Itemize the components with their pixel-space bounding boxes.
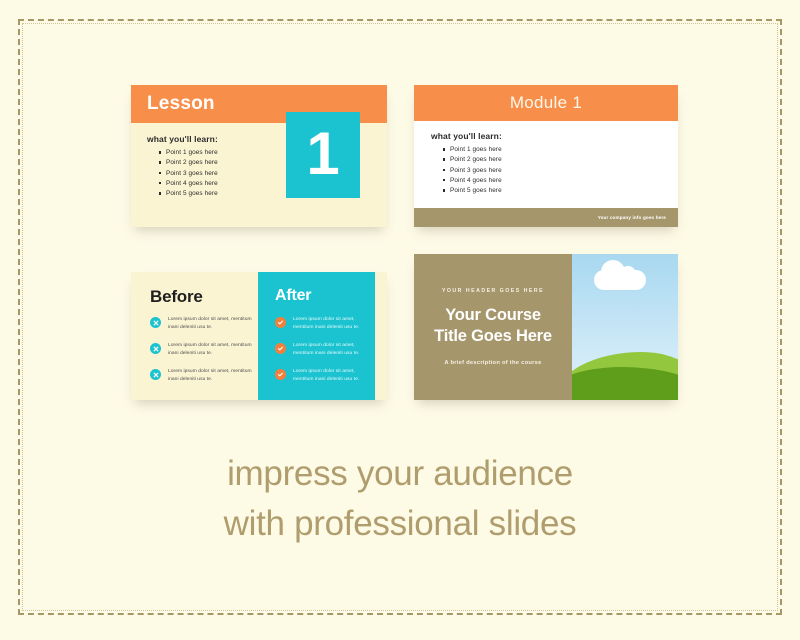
list-item: Lorem ipsum dolor sit amet, mentitum ina… [131,316,258,332]
check-icon [275,369,286,380]
course-text-panel: YOUR HEADER GOES HERE Your Course Title … [414,254,572,400]
list-item: Point 5 goes here [443,187,678,194]
lesson-number: 1 [306,124,339,184]
check-icon [275,343,286,354]
course-description: A brief description of the course [444,360,541,366]
before-item-list: Lorem ipsum dolor sit amet, mentitum ina… [131,316,258,395]
list-item: Lorem ipsum dolor sit amet, mentitum ina… [258,368,375,384]
after-item-text: Lorem ipsum dolor sit amet, mentitum ina… [293,342,375,358]
hill-front-shape [572,367,678,400]
tagline: impress your audience with professional … [0,449,800,548]
course-title-line-1: Your Course [434,305,552,326]
list-item: Point 2 goes here [443,156,678,163]
module-header-title: Module 1 [510,93,582,113]
list-item: Lorem ipsum dolor sit amet, mentitum ina… [258,316,375,332]
close-icon [150,343,161,354]
list-item: Lorem ipsum dolor sit amet, mentitum ina… [258,342,375,358]
close-icon [150,317,161,328]
after-panel: After Lorem ipsum dolor sit amet, mentit… [258,272,375,400]
slide-course-title[interactable]: YOUR HEADER GOES HERE Your Course Title … [414,254,678,400]
poster-canvas: Lesson what you'll learn: Point 1 goes h… [0,0,800,640]
lesson-number-box: 1 [286,112,360,198]
close-icon [150,369,161,380]
after-item-list: Lorem ipsum dolor sit amet, mentitum ina… [258,316,375,395]
before-panel: Before Lorem ipsum dolor sit amet, menti… [131,272,258,400]
slide-module[interactable]: Module 1 what you'll learn: Point 1 goes… [414,85,678,227]
check-icon [275,317,286,328]
list-item: Lorem ipsum dolor sit amet, mentitum ina… [131,368,258,384]
slide-before-after[interactable]: Before Lorem ipsum dolor sit amet, menti… [131,272,387,400]
list-item: Point 1 goes here [443,146,678,153]
slide-lesson[interactable]: Lesson what you'll learn: Point 1 goes h… [131,85,387,227]
after-title: After [275,287,311,305]
landscape-illustration [572,254,678,400]
list-item: Point 4 goes here [443,177,678,184]
module-company-info: Your company info goes here [598,215,666,220]
module-learn-heading: what you'll learn: [431,131,678,141]
before-item-text: Lorem ipsum dolor sit amet, mentitum ina… [168,368,252,384]
lesson-header-title: Lesson [147,93,215,115]
course-title: Your Course Title Goes Here [434,305,552,347]
module-header-bar: Module 1 [414,85,678,121]
tagline-line-1: impress your audience [0,449,800,499]
module-footer-bar: Your company info goes here [414,208,678,227]
list-item: Lorem ipsum dolor sit amet, mentitum ina… [131,342,258,358]
course-kicker: YOUR HEADER GOES HERE [442,288,544,294]
before-title: Before [150,287,203,307]
after-item-text: Lorem ipsum dolor sit amet, mentitum ina… [293,316,375,332]
course-title-line-2: Title Goes Here [434,326,552,347]
list-item: Point 3 goes here [443,167,678,174]
before-item-text: Lorem ipsum dolor sit amet, mentitum ina… [168,342,252,358]
cloud-icon [594,270,646,290]
module-bullet-list: Point 1 goes here Point 2 goes here Poin… [431,146,678,194]
tagline-line-2: with professional slides [0,499,800,549]
before-item-text: Lorem ipsum dolor sit amet, mentitum ina… [168,316,252,332]
module-body: what you'll learn: Point 1 goes here Poi… [414,121,678,194]
after-item-text: Lorem ipsum dolor sit amet, mentitum ina… [293,368,375,384]
